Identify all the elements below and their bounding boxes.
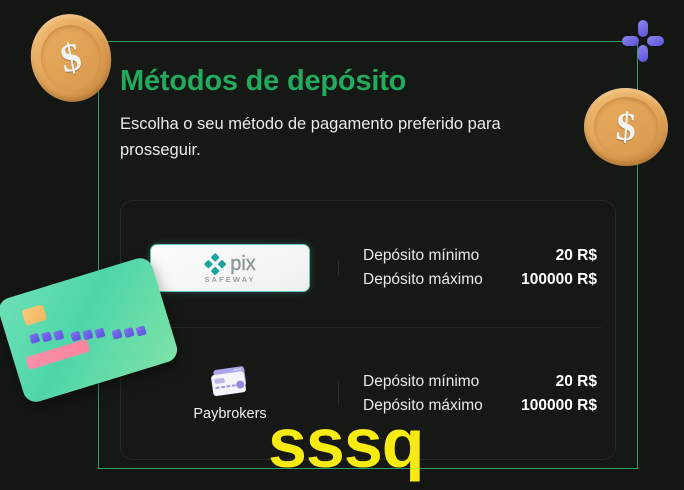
coin-inner: $ bbox=[592, 95, 660, 159]
payment-method-row-pix[interactable]: pix SAFEWAY Depósito mínimo 20 R$ Depósi… bbox=[121, 209, 615, 327]
card-dot bbox=[53, 330, 64, 341]
cell-divider bbox=[338, 382, 339, 406]
cell-divider bbox=[338, 260, 339, 276]
deposit-min-line: Depósito mínimo 20 R$ bbox=[363, 373, 597, 391]
deposit-min-label: Depósito mínimo bbox=[363, 247, 479, 265]
plus-petal-bottom bbox=[638, 45, 648, 62]
plus-petal-right bbox=[647, 36, 664, 46]
card-dot bbox=[135, 325, 146, 336]
card-dot bbox=[123, 327, 134, 338]
plus-petal-top bbox=[638, 20, 648, 37]
sparkle-plus-icon bbox=[622, 20, 664, 62]
deposit-max-value: 100000 R$ bbox=[521, 271, 597, 289]
credit-card-icon bbox=[207, 366, 253, 400]
deposit-min-line: Depósito mínimo 20 R$ bbox=[363, 247, 597, 265]
pix-safeway-tagline: SAFEWAY bbox=[204, 276, 255, 284]
card-dot bbox=[111, 329, 122, 340]
pix-wordmark: pix bbox=[230, 254, 256, 274]
page-title: Métodos de depósito bbox=[120, 65, 616, 98]
deposit-min-value: 20 R$ bbox=[556, 373, 597, 391]
deposit-max-line: Depósito máximo 100000 R$ bbox=[363, 271, 597, 289]
card-dot bbox=[41, 331, 52, 342]
card-dot bbox=[94, 328, 105, 339]
deposit-max-label: Depósito máximo bbox=[363, 271, 483, 289]
pix-deposit-info: Depósito mínimo 20 R$ Depósito máximo 10… bbox=[339, 247, 615, 289]
pix-logo-top: pix bbox=[204, 253, 256, 275]
paybrokers-label: Paybrokers bbox=[193, 407, 266, 422]
paybrokers-logo-wrap: Paybrokers bbox=[193, 366, 266, 422]
watermark-text: sssq bbox=[268, 408, 424, 478]
card-dot bbox=[82, 329, 93, 340]
coin-inner: $ bbox=[34, 19, 107, 97]
card-chip bbox=[21, 304, 47, 326]
plus-petal-left bbox=[622, 36, 639, 46]
page-subtitle: Escolha o seu método de pagamento prefer… bbox=[120, 112, 565, 163]
pix-diamond-icon bbox=[204, 253, 226, 275]
deposit-max-value: 100000 R$ bbox=[521, 397, 597, 415]
card-stripe bbox=[25, 339, 90, 370]
paybrokers-card-glyph bbox=[207, 366, 253, 400]
deposit-min-value: 20 R$ bbox=[556, 247, 597, 265]
pix-logo-plate: pix SAFEWAY bbox=[150, 244, 310, 292]
row-divider bbox=[135, 327, 601, 328]
dollar-sign-icon: $ bbox=[615, 106, 638, 147]
card-dot bbox=[29, 333, 40, 344]
deposit-min-label: Depósito mínimo bbox=[363, 373, 479, 391]
dollar-sign-icon: $ bbox=[57, 36, 85, 79]
